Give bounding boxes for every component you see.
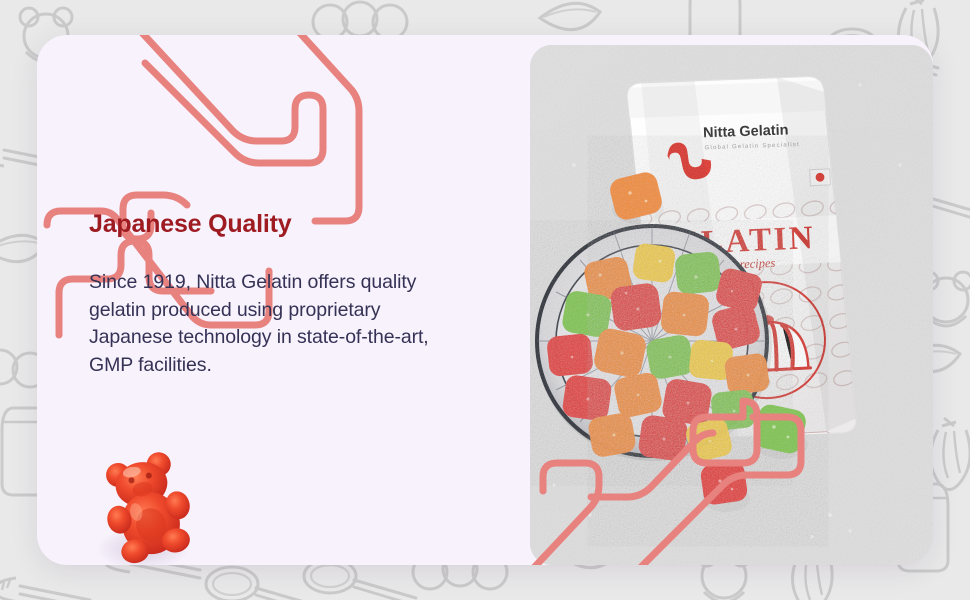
text-column: Japanese Quality Since 1919, Nitta Gelat… xyxy=(89,210,489,380)
body-paragraph: Since 1919, Nitta Gelatin offers quality… xyxy=(89,269,459,380)
product-photo: Nitta Gelatin Global Gelatin Specialist xyxy=(530,45,933,565)
page-title: Japanese Quality xyxy=(89,210,489,239)
product-photo-svg: Nitta Gelatin Global Gelatin Specialist xyxy=(530,45,933,565)
content-card: Japanese Quality Since 1919, Nitta Gelat… xyxy=(37,35,933,565)
red-gummy-bear xyxy=(95,443,205,565)
pouch-brand-text: Nitta Gelatin xyxy=(703,122,789,141)
gummy-bear-svg xyxy=(95,443,205,565)
